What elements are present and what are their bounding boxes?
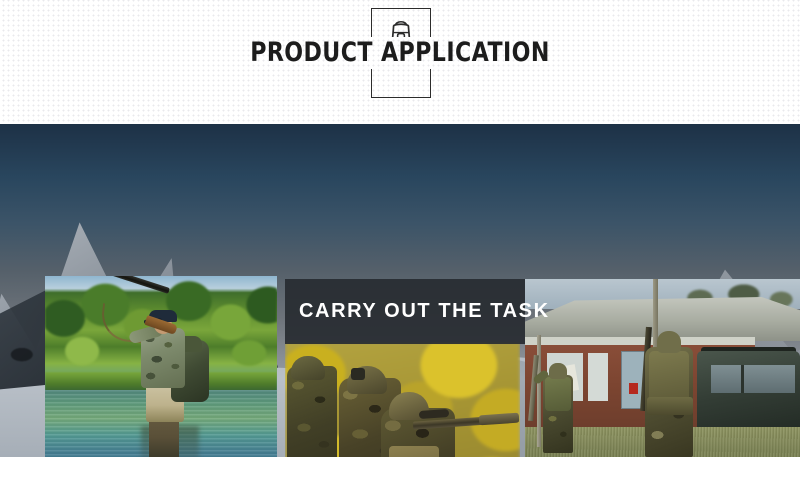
panel-task-image[interactable] — [285, 342, 520, 457]
page-title: PRODUCT APPLICATION — [72, 37, 728, 69]
military-soldier-center-vest — [649, 351, 689, 403]
product-application-banner: PRODUCT APPLICATION — [0, 0, 800, 480]
hero-section: CARRY OUT THE TASK HUNTING MILITARY TRAI… — [0, 124, 800, 457]
military-vehicle-door-pillar — [741, 365, 744, 393]
panel-hunting-image[interactable] — [45, 276, 277, 457]
military-building-trim — [525, 337, 755, 345]
panel-military-image[interactable] — [525, 279, 800, 457]
military-soldier-left-head — [549, 363, 567, 379]
task-soldier-right-vest — [389, 446, 439, 457]
task-soldier-left-helmet — [291, 356, 325, 380]
caption-task-label: CARRY OUT THE TASK — [299, 300, 550, 323]
military-photo — [525, 279, 800, 457]
military-soldier-left-vest — [545, 377, 571, 411]
military-soldier-center-head — [657, 331, 681, 353]
header-section: PRODUCT APPLICATION — [0, 0, 800, 124]
military-building-window-right — [588, 353, 608, 401]
caption-carry-out-the-task: CARRY OUT THE TASK — [285, 279, 525, 344]
military-pole-left — [537, 335, 541, 447]
military-vehicle-windows — [711, 365, 795, 393]
task-photo — [285, 342, 520, 457]
military-soldier-center-pouches — [647, 397, 693, 415]
task-soldier-night-vision-mount — [351, 368, 365, 380]
header-inner: PRODUCT APPLICATION — [0, 0, 800, 124]
hunting-photo — [45, 276, 277, 457]
military-red-marker — [629, 383, 638, 394]
footer-strip — [0, 457, 800, 480]
